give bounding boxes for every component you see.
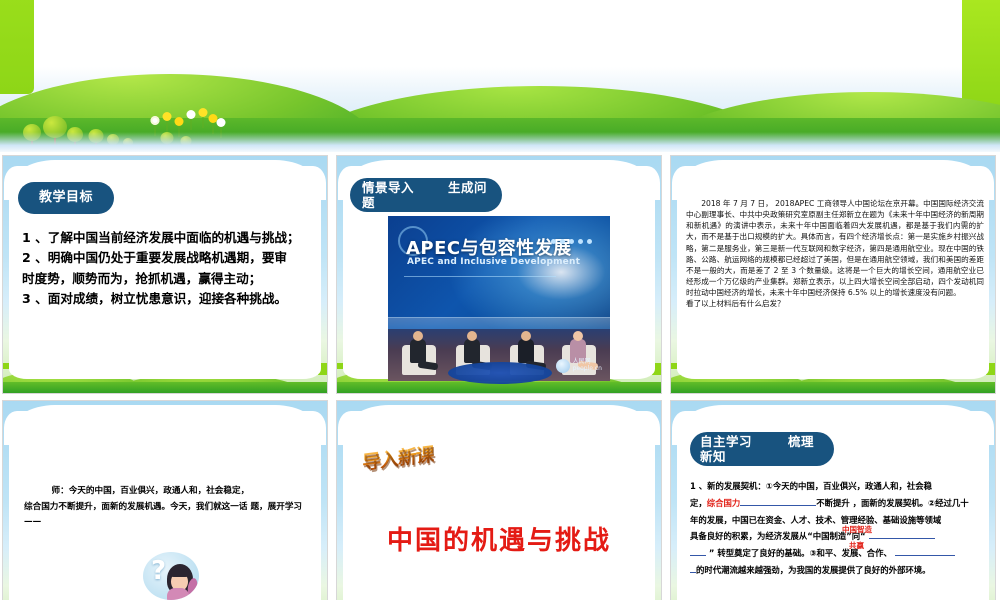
- study-seg: 年的发展，中国已在资金、人才、技术、管理经验、基础设施等领域: [690, 515, 941, 525]
- material-question: 看了以上材料后有什么启发？: [686, 299, 785, 308]
- objective-line: 3 、面对成绩，树立忧患意识，迎接各种挑战。: [22, 289, 312, 309]
- stage-floor-ellipse: [448, 362, 552, 384]
- slide-white-panel: [343, 405, 655, 600]
- flower-icon: [198, 104, 208, 128]
- slide5-lesson-title: 中国的机遇与挑战: [336, 520, 662, 557]
- study-seg: ” 转型奠定了良好的基础。③和平、发展、合作、: [709, 548, 892, 558]
- green-bar-left: [0, 0, 34, 94]
- study-seg: 具备良好的积累，为经济发展从“中国制造”向“: [690, 531, 866, 541]
- blue-wave-divider: [0, 132, 1000, 152]
- objective-line: 1 、了解中国当前经济发展中面临的机遇与挑战；: [22, 228, 312, 248]
- watermark-subtext: people.cn: [573, 366, 602, 373]
- study-answer-red: 中国智造: [842, 522, 872, 537]
- slide3-material-text: 2018 年 7 月 7 日， 2018APEC 工商领导人中国论坛在京开幕。中…: [686, 198, 984, 310]
- slide-thumb-lesson-title[interactable]: [336, 400, 662, 600]
- study-seg: 1 、新的发展契机：①今天的中国，百业俱兴，政通人和，社会稳: [690, 481, 932, 491]
- slide2-section-pill: 情景导入生成问 题: [350, 178, 502, 212]
- study-answer-red: 综合国力: [707, 498, 741, 508]
- people-cn-watermark: 人民网 people.cn: [556, 359, 602, 373]
- slide6-pill-text-2: 梳理: [788, 434, 814, 449]
- slide5-wordart-import-new-lesson: 导入新课: [362, 444, 454, 478]
- study-answer-red: 共赢: [849, 538, 864, 553]
- slide2-pill-text-3: 题: [362, 195, 375, 210]
- slide-thumbnail-page: 教学目标 1 、了解中国当前经济发展中面临的机遇与挑战； 2 、明确中国仍处于重…: [0, 0, 1000, 600]
- objective-line: 2 、明确中国仍处于重要发展战略机遇期，要审: [22, 248, 312, 268]
- slide1-section-pill: 教学目标: [18, 182, 114, 214]
- slide4-teacher-narration: 师：今天的中国，百业俱兴，政通人和，社会稳定， 综合国力不断提升，面新的发展机遇…: [24, 484, 310, 531]
- narration-line: 综合国力不断提升，面新的发展机遇。今天，我们就这一话: [24, 502, 247, 512]
- narration-line: 师：今天的中国，百业俱兴，政通人和，社会稳定，: [24, 484, 310, 500]
- slide6-section-pill: 自主学习梳理 新知: [690, 432, 834, 466]
- slide6-pill-text-3: 新知: [700, 449, 726, 464]
- wordart-text: 导入新课: [362, 440, 434, 476]
- study-seg: 不断提升 ，面新的发展契机。②经过几十: [816, 498, 968, 508]
- slide2-pill-text-2: 生成问: [448, 180, 487, 195]
- slide2-pill-text-1: 情景导入: [362, 180, 414, 195]
- slide1-objective-list: 1 、了解中国当前经济发展中面临的机遇与挑战； 2 、明确中国仍处于重要发展战略…: [22, 228, 312, 310]
- objective-line: 时度势，顺势而为，抢抓机遇，赢得主动；: [22, 269, 312, 289]
- slide6-pill-text-1: 自主学习: [700, 434, 752, 449]
- decorative-dots: [551, 239, 592, 244]
- photo-title-en: APEC and Inclusive Development: [407, 257, 580, 267]
- flower-icon: [186, 106, 196, 130]
- apec-forum-photo: APEC与包容性发展 APEC and Inclusive Developmen…: [388, 216, 610, 381]
- thinking-girl-icon: ?: [143, 552, 199, 600]
- green-bar-right: [962, 0, 1000, 112]
- study-seg: 定，: [690, 498, 707, 508]
- decorative-header-banner: [0, 0, 1000, 152]
- material-paragraph: 2018 年 7 月 7 日， 2018APEC 工商领导人中国论坛在京开幕。中…: [686, 198, 984, 298]
- slide6-self-study-text: 1 、新的发展契机：①今天的中国，百业俱兴，政通人和，社会稳 定，综合国力不断提…: [690, 478, 984, 579]
- study-seg: 的时代潮流越来越强劲，为我国的发展提供了良好的外部环境。: [696, 565, 931, 575]
- flower-icon: [162, 108, 172, 132]
